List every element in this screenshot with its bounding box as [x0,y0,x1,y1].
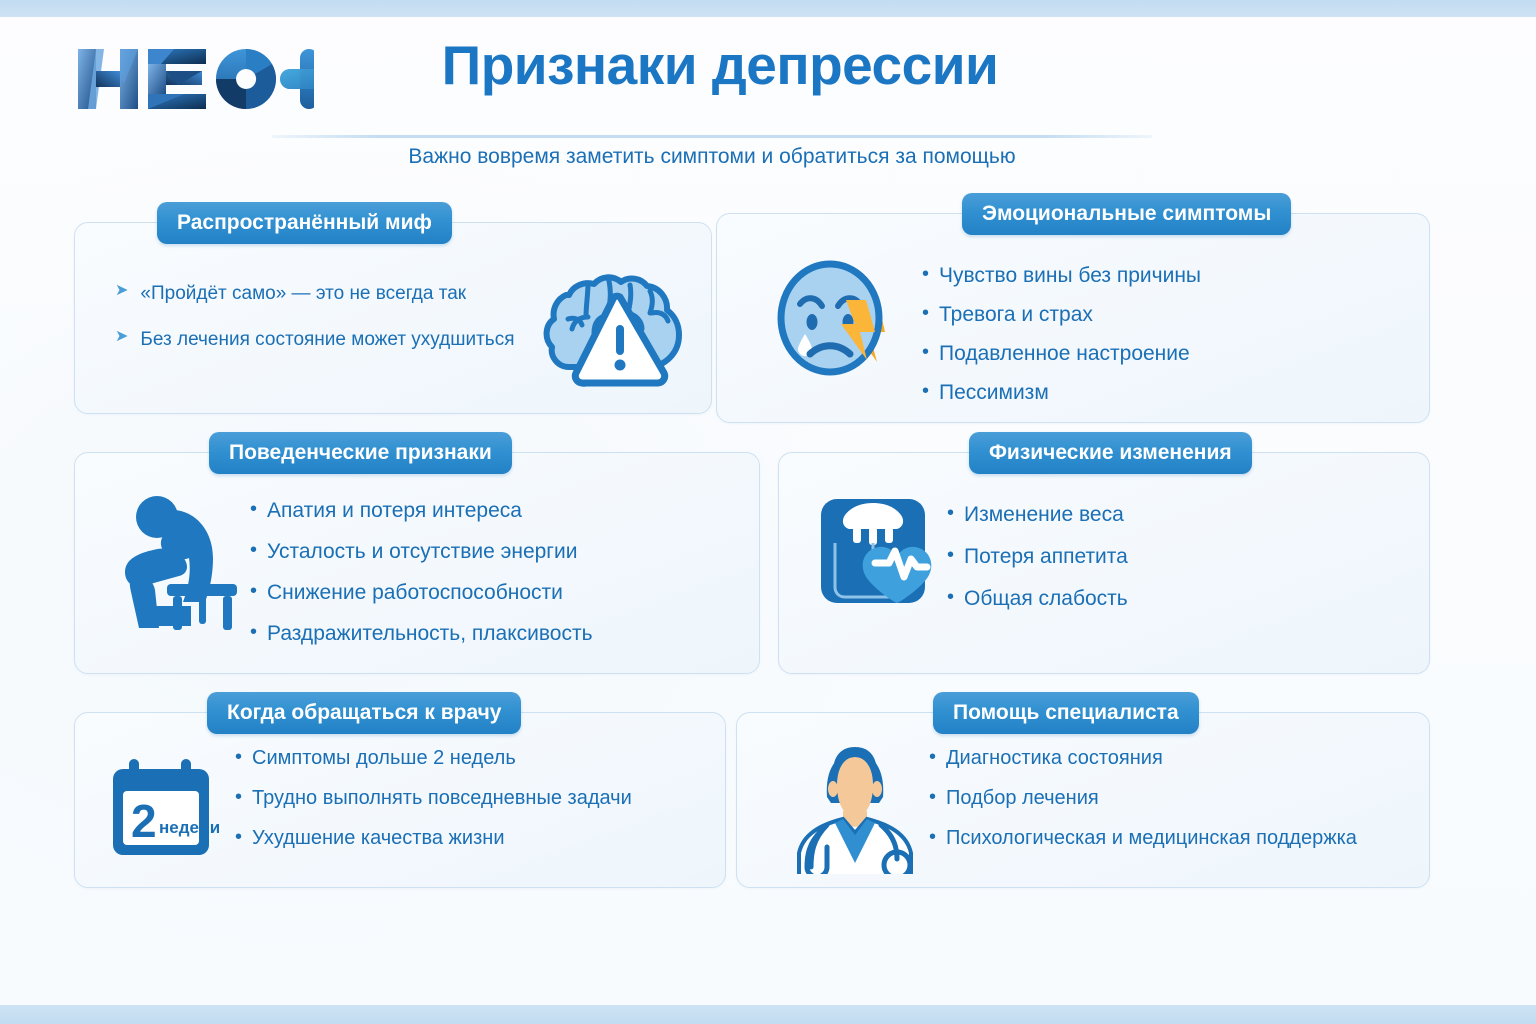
list-item: •Подбор лечения [929,787,1357,810]
card-myth-list: ➤«Пройдёт само» — это не всегда так ➤Без… [115,283,515,375]
card-physical-list: •Изменение веса •Потеря аппетита •Общая … [947,503,1128,629]
list-item: •Потеря аппетита [947,545,1128,569]
card-when-list: •Симптомы дольше 2 недель •Трудно выполн… [235,747,632,867]
list-item: •Снижение работоспособности [250,581,593,605]
card-emotional-list: •Чувство вины без причины •Тревога и стр… [922,264,1201,420]
list-item-label: Тревога и страх [939,303,1093,327]
weight-scale-heart-icon [815,491,955,626]
calendar-number: 2 [131,795,157,847]
dot-bullet-icon: • [250,540,257,560]
dot-bullet-icon: • [922,381,929,401]
calendar-two-weeks-icon: 2 недели [107,753,219,861]
list-item-label: Общая слабость [964,587,1128,611]
list-item: •Трудно выполнять повседневные задачи [235,787,632,810]
dot-bullet-icon: • [235,827,242,847]
list-item: •Усталость и отсутствие энергии [250,540,593,564]
list-item: •Тревога и страх [922,303,1201,327]
list-item-label: Подбор лечения [946,787,1099,810]
sad-face-lightning-icon [774,256,909,381]
page-subtitle: Важно вовремя заметить симптоми и обрати… [272,145,1152,169]
list-item: •Изменение веса [947,503,1128,527]
infographic-page: Признаки депрессии Важно вовремя заметит… [0,0,1536,1024]
dot-bullet-icon: • [235,787,242,807]
card-physical: Физические изменения •Изменение веса •По… [778,452,1430,674]
list-item: •Подавленное настроение [922,342,1201,366]
list-item-label: «Пройдёт само» — это не всегда так [140,283,466,305]
list-item-label: Потеря аппетита [964,545,1128,569]
dot-bullet-icon: • [250,581,257,601]
dot-bullet-icon: • [235,747,242,767]
card-help: Помощь специалиста •Диагностика состояни… [736,712,1430,888]
card-behavior: Поведенческие признаки •Апатия и потеря … [74,452,760,674]
list-item: ➤«Пройдёт само» — это не всегда так [115,283,515,305]
list-item: •Общая слабость [947,587,1128,611]
list-item-label: Симптомы дольше 2 недель [252,747,516,770]
neo-plus-logo [74,37,314,121]
dot-bullet-icon: • [922,264,929,284]
dot-bullet-icon: • [929,787,936,807]
calendar-unit: недели [159,818,219,837]
list-item-label: Подавленное настроение [939,342,1190,366]
dot-bullet-icon: • [250,622,257,642]
list-item-label: Ухудшение качества жизни [252,827,504,850]
brain-warning-icon [530,255,710,390]
dot-bullet-icon: • [929,747,936,767]
list-item-label: Раздражительность, плаксивость [267,622,593,646]
list-item-label: Снижение работоспособности [267,581,563,605]
card-emotional: Эмоциональные симптомы •Чувство вины без… [716,213,1430,423]
top-accent-band [0,0,1536,17]
list-item: •Раздражительность, плаксивость [250,622,593,646]
list-item-label: Апатия и потеря интереса [267,499,522,523]
list-item-label: Чувство вины без причины [939,264,1201,288]
card-behavior-list: •Апатия и потеря интереса •Усталость и о… [250,499,593,663]
list-item: •Апатия и потеря интереса [250,499,593,523]
dot-bullet-icon: • [922,303,929,323]
dot-bullet-icon: • [929,827,936,847]
arrow-bullet-icon: ➤ [115,283,128,299]
bottom-accent-band [0,1005,1536,1024]
list-item: ➤Без лечения состояние может ухудшиться [115,329,515,351]
list-item: •Симптомы дольше 2 недель [235,747,632,770]
list-item-label: Усталость и отсутствие энергии [267,540,577,564]
dot-bullet-icon: • [250,499,257,519]
list-item-label: Трудно выполнять повседневные задачи [252,787,632,810]
doctor-icon [781,739,926,874]
arrow-bullet-icon: ➤ [115,329,128,345]
list-item-label: Пессимизм [939,381,1049,405]
list-item-label: Психологическая и медицинская поддержка [946,827,1357,850]
sitting-person-icon [123,488,243,633]
list-item: •Чувство вины без причины [922,264,1201,288]
list-item: •Психологическая и медицинская поддержка [929,827,1357,850]
dot-bullet-icon: • [922,342,929,362]
card-myth: Распространённый миф ➤«Пройдёт само» — э… [74,222,712,414]
card-when: Когда обращаться к врачу •Симптомы дольш… [74,712,726,888]
header: Признаки депрессии Важно вовремя заметит… [0,17,1536,167]
title-divider [272,135,1152,138]
list-item: •Диагностика состояния [929,747,1357,770]
list-item-label: Без лечения состояние может ухудшиться [140,329,514,351]
card-help-list: •Диагностика состояния •Подбор лечения •… [929,747,1357,867]
list-item: •Ухудшение качества жизни [235,827,632,850]
list-item: •Пессимизм [922,381,1201,405]
page-title: Признаки депрессии [380,33,1060,97]
list-item-label: Диагностика состояния [946,747,1163,770]
list-item-label: Изменение веса [964,503,1124,527]
